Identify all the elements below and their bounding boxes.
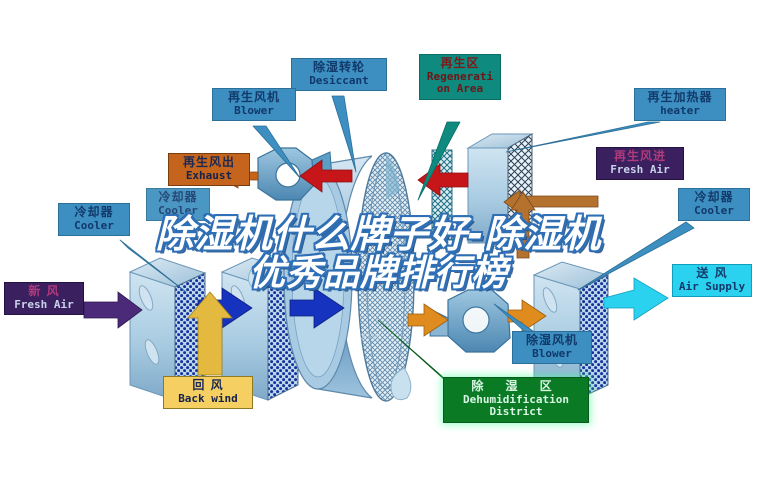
label-air-supply-cn: 送 风: [678, 267, 746, 281]
label-cooler-left-occluded-cn: 冷却器: [152, 191, 204, 205]
label-back-wind-en: Back wind: [169, 393, 247, 406]
label-regeneration-heater-en: heater: [640, 105, 720, 118]
label-fresh-air: 新 风 Fresh Air: [4, 282, 84, 315]
label-fresh-air-en: Fresh Air: [10, 299, 78, 312]
label-air-supply-en: Air Supply: [678, 281, 746, 294]
label-desiccant-rotor-cn: 除湿转轮: [297, 61, 381, 75]
label-dehumidification-district-en2: District: [449, 406, 583, 419]
label-dehumidification-blower-en: Blower: [518, 348, 586, 361]
label-regeneration-blower: 再生风机 Blower: [212, 88, 296, 121]
label-desiccant-rotor: 除湿转轮 Desiccant: [291, 58, 387, 91]
air-supply-arrow: [604, 278, 668, 320]
label-cooler-left-cn: 冷却器: [64, 206, 124, 220]
label-desiccant-rotor-en: Desiccant: [297, 75, 381, 88]
label-cooler-left: 冷却器 Cooler: [58, 203, 130, 236]
label-regeneration-heater: 再生加热器 heater: [634, 88, 726, 121]
label-dehumidification-district-cn: 除 湿 区: [449, 380, 583, 394]
label-exhaust-cn: 再生风出: [174, 156, 244, 170]
label-back-wind-cn: 回 风: [169, 379, 247, 393]
label-cooler-left-occluded-en: Cooler: [152, 205, 204, 218]
label-exhaust-en: Exhaust: [174, 170, 244, 183]
label-dehumidification-district: 除 湿 区 Dehumidification District: [443, 377, 589, 423]
label-fresh-air-cn: 新 风: [10, 285, 78, 299]
label-cooler-right: 冷却器 Cooler: [678, 188, 750, 221]
label-regeneration-area: 再生区 Regenerati on Area: [419, 54, 501, 100]
label-dehumidification-blower: 除湿风机 Blower: [512, 331, 592, 364]
label-cooler-right-cn: 冷却器: [684, 191, 744, 205]
label-regeneration-blower-cn: 再生风机: [218, 91, 290, 105]
label-regeneration-heater-cn: 再生加热器: [640, 91, 720, 105]
svg-text:XTW: XTW: [360, 333, 381, 343]
label-regeneration-fresh-air: 再生风进 Fresh Air: [596, 147, 684, 180]
label-cooler-right-en: Cooler: [684, 205, 744, 218]
label-regeneration-blower-en: Blower: [218, 105, 290, 118]
label-back-wind: 回 风 Back wind: [163, 376, 253, 409]
label-exhaust: 再生风出 Exhaust: [168, 153, 250, 186]
label-regeneration-fresh-air-cn: 再生风进: [602, 150, 678, 164]
label-air-supply: 送 风 Air Supply: [672, 264, 752, 297]
label-regeneration-fresh-air-en: Fresh Air: [602, 164, 678, 177]
label-regeneration-area-en2: on Area: [425, 83, 495, 96]
label-cooler-left-occluded: 冷却器 Cooler: [146, 188, 210, 221]
label-dehumidification-blower-cn: 除湿风机: [518, 334, 586, 348]
label-cooler-left-en: Cooler: [64, 220, 124, 233]
label-regeneration-area-cn: 再生区: [425, 57, 495, 71]
dehumidifier-schematic-image: XTW: [0, 0, 757, 488]
